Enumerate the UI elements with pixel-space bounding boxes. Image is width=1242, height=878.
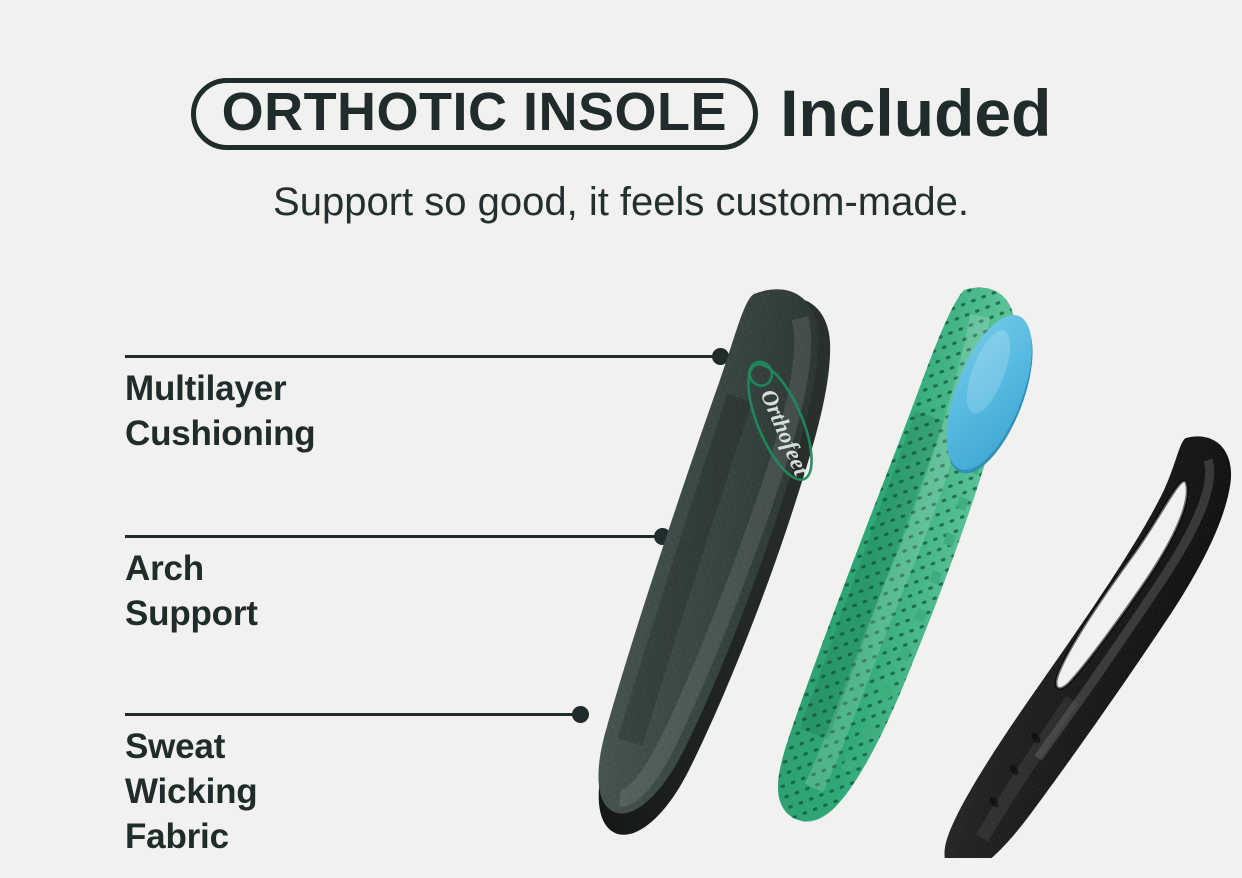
- headline: ORTHOTIC INSOLE Included: [0, 78, 1242, 150]
- headline-suffix: Included: [780, 80, 1051, 146]
- feature-label: Multilayer Cushioning: [125, 367, 315, 457]
- product-image: Orthofeet: [586, 258, 1242, 858]
- leader-rule: [125, 713, 580, 716]
- subtitle: Support so good, it feels custom-made.: [0, 180, 1242, 224]
- feature-label: Sweat Wicking Fabric: [125, 725, 257, 859]
- pill-label: ORTHOTIC INSOLE: [222, 85, 728, 139]
- infographic-canvas: ORTHOTIC INSOLE Included Support so good…: [0, 0, 1242, 878]
- leader-rule: [125, 535, 662, 538]
- orthotic-insole-pill: ORTHOTIC INSOLE: [191, 78, 759, 150]
- arch-support-shell: [944, 436, 1231, 858]
- feature-label: Arch Support: [125, 547, 258, 637]
